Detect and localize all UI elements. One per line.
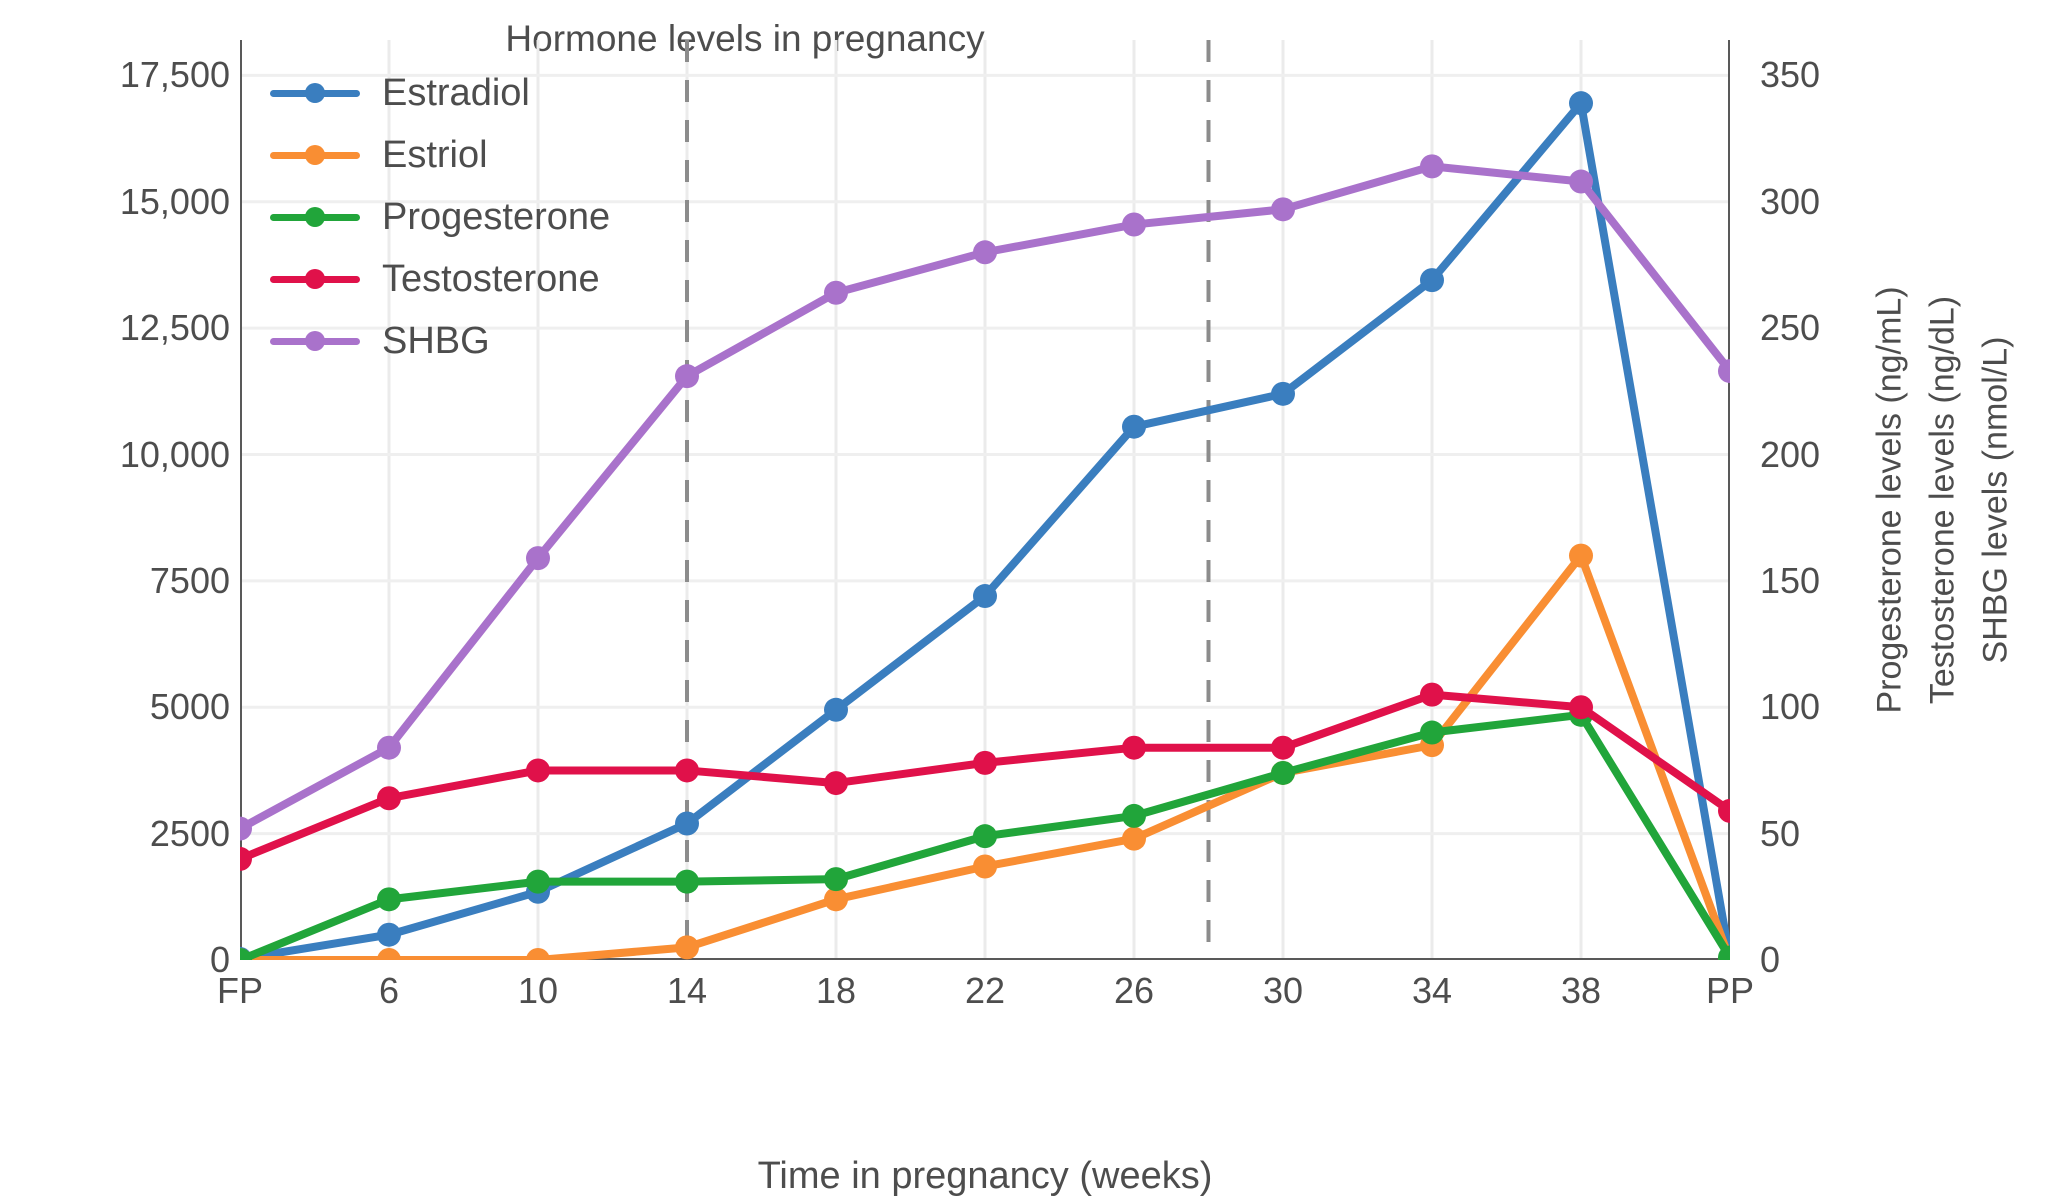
data-point [675,935,699,959]
data-point [377,887,401,911]
data-point [526,758,550,782]
legend-label: Estradiol [382,72,530,115]
data-point [1122,415,1146,439]
legend-label: Progesterone [382,196,610,239]
data-point [377,736,401,760]
y-axis-left-tick-label: 17,500 [0,54,230,96]
y-axis-right-tick-label: 250 [1760,307,2048,349]
data-point [377,948,401,960]
y-axis-left-tick-label: 10,000 [0,434,230,476]
legend-marker-icon [305,331,325,351]
data-point [377,923,401,947]
data-point [1569,91,1593,115]
data-point [973,854,997,878]
data-point [1122,213,1146,237]
y-axis-left-tick-label: 15,000 [0,181,230,223]
y-axis-left-tick-label: 12,500 [0,307,230,349]
data-point [1122,736,1146,760]
data-point [1420,154,1444,178]
data-point [824,281,848,305]
data-point [675,870,699,894]
legend-swatch-icon [270,214,360,221]
y-axis-right-tick-label: 150 [1760,560,2048,602]
legend-swatch-icon [270,276,360,283]
data-point [675,758,699,782]
data-point [824,771,848,795]
data-point [1122,804,1146,828]
data-point [973,751,997,775]
data-point [240,948,252,960]
data-point [1271,197,1295,221]
data-point [526,546,550,570]
y-axis-left-tick-label: 5000 [0,686,230,728]
data-point [675,812,699,836]
legend-swatch-icon [270,90,360,97]
data-point [824,867,848,891]
data-point [973,240,997,264]
data-point [1271,382,1295,406]
data-point [1271,761,1295,785]
data-point [377,786,401,810]
data-point [1569,695,1593,719]
data-point [1420,268,1444,292]
legend-item-estradiol[interactable]: Estradiol [270,62,610,124]
y-axis-right-tick-label: 300 [1760,181,2048,223]
legend-label: Testosterone [382,258,600,301]
data-point [973,824,997,848]
legend-item-testosterone[interactable]: Testosterone [270,248,610,310]
x-axis-tick-label: PP [1630,970,1830,1012]
data-point [973,584,997,608]
y-axis-left-tick-label: 7500 [0,560,230,602]
data-point [1420,683,1444,707]
legend-item-progesterone[interactable]: Progesterone [270,186,610,248]
legend-swatch-icon [270,338,360,345]
data-point [1569,544,1593,568]
data-point [526,948,550,960]
data-point [1271,736,1295,760]
legend-item-shbg[interactable]: SHBG [270,310,610,372]
legend-marker-icon [305,145,325,165]
legend-marker-icon [305,207,325,227]
y-axis-right-tick-label: 50 [1760,813,2048,855]
legend-item-estriol[interactable]: Estriol [270,124,610,186]
data-point [824,698,848,722]
y-axis-left-tick-label: 2500 [0,813,230,855]
legend-marker-icon [305,269,325,289]
x-axis-label: Time in pregnancy (weeks) [240,1155,1730,1198]
legend: EstradiolEstriolProgesteroneTestosterone… [270,62,610,372]
legend-swatch-icon [270,152,360,159]
y-axis-right-tick-label: 200 [1760,434,2048,476]
data-point [1122,827,1146,851]
data-point [1569,170,1593,194]
y-axis-right-tick-label: 100 [1760,686,2048,728]
legend-marker-icon [305,83,325,103]
legend-label: Estriol [382,134,488,177]
data-point [1420,721,1444,745]
plot-area: Time in pregnancy (weeks) 02500500075001… [240,40,1730,960]
y-axis-right-tick-label: 350 [1760,54,2048,96]
data-point [675,364,699,388]
chart-figure: Hormone levels in pregnancy Estradiol an… [0,0,2048,1196]
legend-label: SHBG [382,320,490,363]
data-point [526,870,550,894]
